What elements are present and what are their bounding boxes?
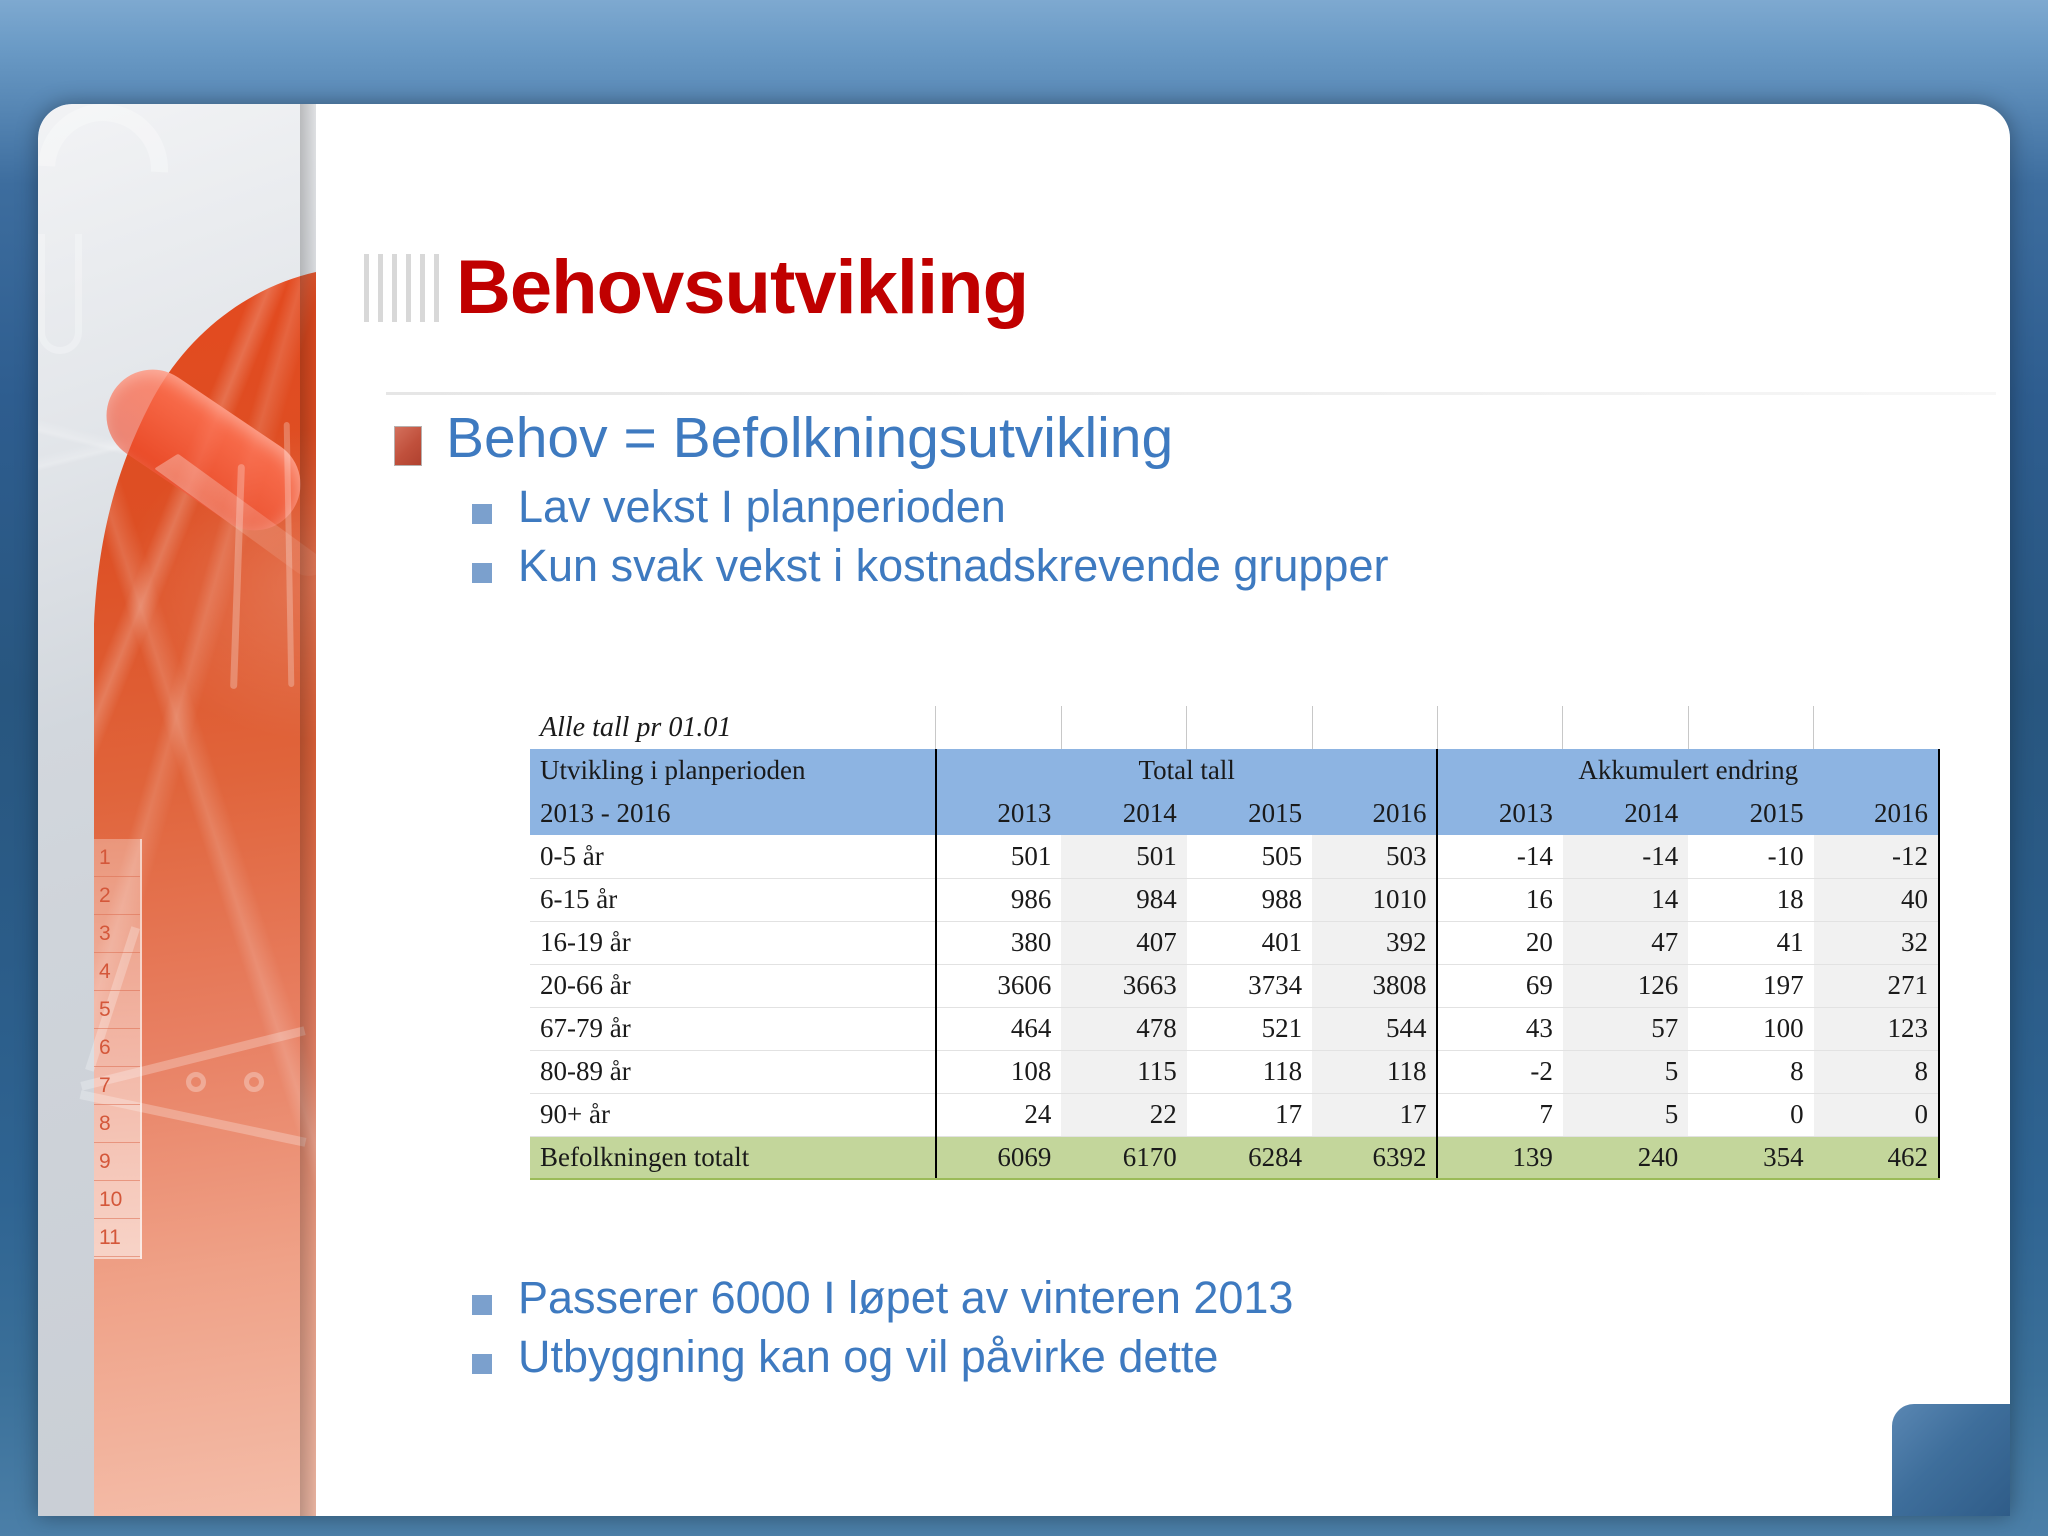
table-year-header-row: 2013 - 2016 2013 2014 2015 2016 2013 201…: [530, 792, 1939, 835]
year-header: 2014: [1563, 792, 1688, 835]
year-header: 2013: [1437, 792, 1562, 835]
year-header: 2014: [1061, 792, 1186, 835]
cell: 3606: [936, 964, 1061, 1007]
bullet-list-top: Behov = Befolkningsutvikling Lav vekst I…: [394, 404, 1974, 596]
ruler-tick: 7: [94, 1067, 140, 1105]
small-square-bullet-icon: [472, 504, 492, 524]
small-square-bullet-icon: [472, 1295, 492, 1315]
bullet-text: Lav vekst I planperioden: [518, 478, 1006, 535]
cell: 505: [1187, 835, 1312, 878]
cell: 3808: [1312, 964, 1437, 1007]
population-table: Alle tall pr 01.01 Utvikling i planperio…: [530, 706, 1940, 1180]
total-label: Befolkningen totalt: [530, 1136, 936, 1179]
cell: 5: [1563, 1050, 1688, 1093]
ruler-graphic: 1234567891011: [94, 839, 142, 1259]
cell: 197: [1688, 964, 1813, 1007]
cell: 17: [1187, 1093, 1312, 1136]
presentation-slide: 1234567891011 Behovsutvikling Behov = Be…: [38, 104, 2010, 1516]
cell: 18: [1688, 878, 1813, 921]
cell: 0: [1814, 1093, 1939, 1136]
group-header-total: Total tall: [936, 749, 1438, 792]
cell: 118: [1187, 1050, 1312, 1093]
cell: 521: [1187, 1007, 1312, 1050]
cell: 8: [1814, 1050, 1939, 1093]
cell: 126: [1563, 964, 1688, 1007]
caption-spacer: [1187, 706, 1312, 749]
total-cell: 462: [1814, 1136, 1939, 1179]
cell: 22: [1061, 1093, 1186, 1136]
cell: 401: [1187, 921, 1312, 964]
group-header-accumulated: Akkumulert endring: [1437, 749, 1939, 792]
ruler-tick: 2: [94, 877, 140, 915]
cell: 501: [936, 835, 1061, 878]
cell: 7: [1437, 1093, 1562, 1136]
ruler-tick: 9: [94, 1143, 140, 1181]
row-label: 6-15 år: [530, 878, 936, 921]
cell: -12: [1814, 835, 1939, 878]
cell: 69: [1437, 964, 1562, 1007]
cell: 20: [1437, 921, 1562, 964]
cell: 14: [1563, 878, 1688, 921]
cell: 544: [1312, 1007, 1437, 1050]
cell: 984: [1061, 878, 1186, 921]
pliers-pivot2-icon: [244, 1072, 264, 1092]
page-title: Behovsutvikling: [456, 244, 1028, 331]
year-header: 2015: [1187, 792, 1312, 835]
caption-spacer: [1814, 706, 1939, 749]
slide-decorative-sidebar: 1234567891011: [38, 104, 316, 1516]
year-header: 2015: [1688, 792, 1813, 835]
total-cell: 354: [1688, 1136, 1813, 1179]
cell: 3663: [1061, 964, 1186, 1007]
cell: 986: [936, 878, 1061, 921]
cell: 17: [1312, 1093, 1437, 1136]
bullet-item-level2: Kun svak vekst i kostnadskrevende gruppe…: [472, 537, 1974, 594]
table-row: 0-5 år 501 501 505 503 -14 -14 -10 -12: [530, 835, 1939, 878]
cell: 5: [1563, 1093, 1688, 1136]
table-row: 90+ år 24 22 17 17 7 5 0 0: [530, 1093, 1939, 1136]
cell: 464: [936, 1007, 1061, 1050]
total-cell: 240: [1563, 1136, 1688, 1179]
table-row: 16-19 år 380 407 401 392 20 47 41 32: [530, 921, 1939, 964]
row-label: 20-66 år: [530, 964, 936, 1007]
row-label: 67-79 år: [530, 1007, 936, 1050]
total-cell: 6392: [1312, 1136, 1437, 1179]
small-square-bullet-icon: [472, 1354, 492, 1374]
row-label: 80-89 år: [530, 1050, 936, 1093]
cell: 57: [1563, 1007, 1688, 1050]
table-caption-row: Alle tall pr 01.01: [530, 706, 1939, 749]
cell: 118: [1312, 1050, 1437, 1093]
cell: 100: [1688, 1007, 1813, 1050]
cell: 41: [1688, 921, 1813, 964]
bottom-right-corner-accent: [1892, 1404, 2010, 1516]
cell: 3734: [1187, 964, 1312, 1007]
title-divider: [386, 392, 1996, 395]
cell: 8: [1688, 1050, 1813, 1093]
cell: 0: [1688, 1093, 1813, 1136]
caption-spacer: [1061, 706, 1186, 749]
year-header: 2016: [1312, 792, 1437, 835]
cell: -10: [1688, 835, 1813, 878]
cell: 108: [936, 1050, 1061, 1093]
cell: 123: [1814, 1007, 1939, 1050]
caption-spacer: [1563, 706, 1688, 749]
small-square-bullet-icon: [472, 563, 492, 583]
cell: 380: [936, 921, 1061, 964]
cell: 503: [1312, 835, 1437, 878]
year-header: 2013: [936, 792, 1061, 835]
cell: 271: [1814, 964, 1939, 1007]
table-caption: Alle tall pr 01.01: [530, 706, 936, 749]
cell: 43: [1437, 1007, 1562, 1050]
row-label: 0-5 år: [530, 835, 936, 878]
table-group-header-row: Utvikling i planperioden Total tall Akku…: [530, 749, 1939, 792]
ruler-tick: 11: [94, 1219, 140, 1257]
cell: 1010: [1312, 878, 1437, 921]
row-label: 16-19 år: [530, 921, 936, 964]
table-header-title: Utvikling i planperioden: [530, 749, 936, 792]
table-row: 80-89 år 108 115 118 118 -2 5 8 8: [530, 1050, 1939, 1093]
ruler-tick: 10: [94, 1181, 140, 1219]
caption-spacer: [936, 706, 1061, 749]
cell: 32: [1814, 921, 1939, 964]
cell: 16: [1437, 878, 1562, 921]
bullet-item-level2: Utbyggning kan og vil påvirke dette: [472, 1328, 1972, 1385]
bullet-list-bottom: Passerer 6000 I løpet av vinteren 2013 U…: [472, 1269, 1972, 1387]
ruler-tick: 3: [94, 915, 140, 953]
cell: -2: [1437, 1050, 1562, 1093]
table-row: 6-15 år 986 984 988 1010 16 14 18 40: [530, 878, 1939, 921]
cell: -14: [1437, 835, 1562, 878]
ruler-tick: 6: [94, 1029, 140, 1067]
year-header: 2016: [1814, 792, 1939, 835]
bullet-item-level2: Lav vekst I planperioden: [472, 478, 1974, 535]
total-cell: 6284: [1187, 1136, 1312, 1179]
ruler-tick: 4: [94, 953, 140, 991]
title-decoration-bars: [364, 254, 440, 322]
table-total-row: Befolkningen totalt 6069 6170 6284 6392 …: [530, 1136, 1939, 1179]
cell: 24: [936, 1093, 1061, 1136]
ruler-tick: 1: [94, 839, 140, 877]
bullet-item-level1: Behov = Befolkningsutvikling: [394, 404, 1974, 474]
total-cell: 6170: [1061, 1136, 1186, 1179]
cell: 988: [1187, 878, 1312, 921]
ruler-tick: 8: [94, 1105, 140, 1143]
cell: 478: [1061, 1007, 1186, 1050]
caption-spacer: [1312, 706, 1437, 749]
bullet-text: Utbyggning kan og vil påvirke dette: [518, 1328, 1218, 1385]
cell: 40: [1814, 878, 1939, 921]
row-label: 90+ år: [530, 1093, 936, 1136]
cell: 501: [1061, 835, 1186, 878]
table-row: 67-79 år 464 478 521 544 43 57 100 123: [530, 1007, 1939, 1050]
bullet-text: Behov = Befolkningsutvikling: [446, 404, 1173, 474]
bullet-text: Passerer 6000 I løpet av vinteren 2013: [518, 1269, 1293, 1326]
cell: 407: [1061, 921, 1186, 964]
cell: -14: [1563, 835, 1688, 878]
multitool-fork-icon: [38, 234, 82, 354]
cell: 47: [1563, 921, 1688, 964]
total-cell: 6069: [936, 1136, 1061, 1179]
square-bullet-icon: [394, 426, 422, 466]
cell: 115: [1061, 1050, 1186, 1093]
caption-spacer: [1688, 706, 1813, 749]
bullet-text: Kun svak vekst i kostnadskrevende gruppe…: [518, 537, 1388, 594]
caption-spacer: [1437, 706, 1562, 749]
total-cell: 139: [1437, 1136, 1562, 1179]
pliers-pivot-icon: [186, 1072, 206, 1092]
table-row: 20-66 år 3606 3663 3734 3808 69 126 197 …: [530, 964, 1939, 1007]
cell: 392: [1312, 921, 1437, 964]
ruler-tick: 5: [94, 991, 140, 1029]
table-header-period: 2013 - 2016: [530, 792, 936, 835]
bullet-item-level2: Passerer 6000 I løpet av vinteren 2013: [472, 1269, 1972, 1326]
